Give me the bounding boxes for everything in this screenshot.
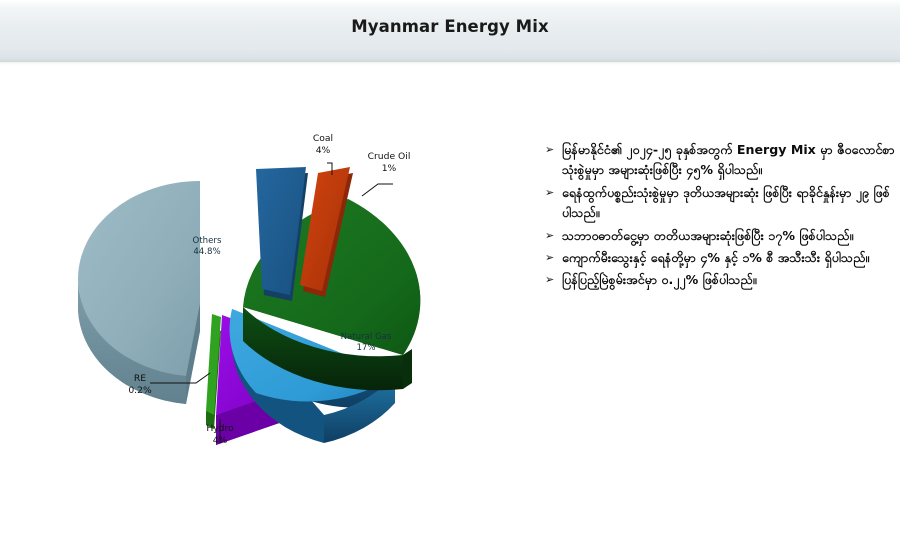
list-item: ➢ ပြန်ပြည့်မြဲစွမ်းအင်မှာ ၀.၂၂% ဖြစ်ပါသည… [545,270,895,290]
chart-area: Coal 4% Crude Oil 1% Petroleum Products … [0,63,545,548]
arrow-bullet-icon: ➢ [545,183,562,202]
list-item-text: သဘာဝဓာတ်ငွေ့မှာ တတိယအများဆုံးဖြစ်ပြီး ၁၇… [562,226,895,246]
arrow-bullet-icon: ➢ [545,248,562,267]
list-item-text: ရေနံထွက်ပစ္စည်းသုံးစွဲမှုမှာ ဒုတိယအများဆ… [562,183,895,224]
page-title: Myanmar Energy Mix [0,17,900,36]
list-item: ➢ မြန်မာနိုင်ငံ၏ ၂၀၂၄-၂၅ ခုနှစ်အတွက် Ene… [545,140,895,181]
list-item-text: ကျောက်မီးသွေးနှင့် ရေနံတို့မှာ ၄% နှင့် … [562,248,895,268]
list-item: ➢ သဘာဝဓာတ်ငွေ့မှာ တတိယအများဆုံးဖြစ်ပြီး … [545,226,895,246]
list-item-text: မြန်မာနိုင်ငံ၏ ၂၀၂၄-၂၅ ခုနှစ်အတွက် Energ… [562,140,895,181]
pie-slice-others[interactable] [78,181,200,404]
list-item: ➢ ကျောက်မီးသွေးနှင့် ရေနံတို့မှာ ၄% နှင့… [545,248,895,268]
bullet-list: ➢ မြန်မာနိုင်ငံ၏ ၂၀၂၄-၂၅ ခုနှစ်အတွက် Ene… [545,140,895,293]
header-bar: Myanmar Energy Mix [0,0,900,63]
list-item: ➢ ရေနံထွက်ပစ္စည်းသုံးစွဲမှုမှာ ဒုတိယအမျာ… [545,183,895,224]
arrow-bullet-icon: ➢ [545,140,562,159]
arrow-bullet-icon: ➢ [545,226,562,245]
list-item-text: ပြန်ပြည့်မြဲစွမ်းအင်မှာ ၀.၂၂% ဖြစ်ပါသည်။ [562,270,895,290]
arrow-bullet-icon: ➢ [545,270,562,289]
pie-chart-3d [0,63,545,548]
